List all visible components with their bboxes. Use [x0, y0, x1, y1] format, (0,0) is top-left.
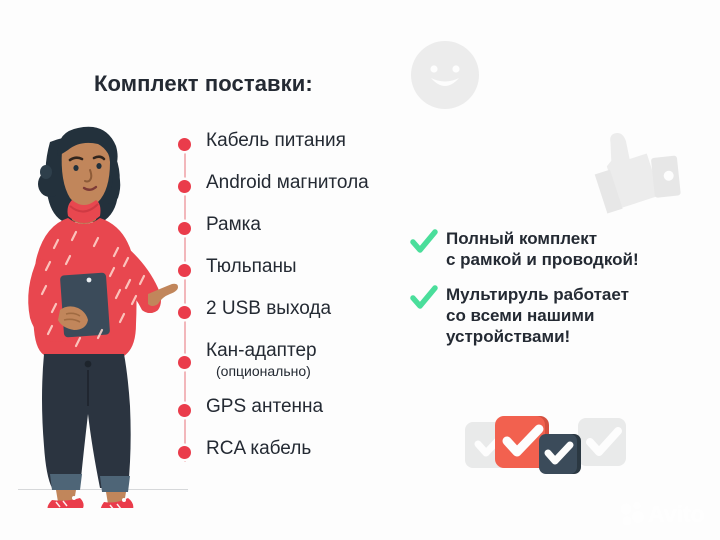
- bullet-dot-icon: [178, 222, 191, 235]
- kit-items-list: Кабель питания Android магнитола Рамка Т…: [178, 130, 428, 480]
- list-item-sublabel: (опционально): [216, 362, 311, 380]
- bullet-dot-icon: [178, 356, 191, 369]
- list-item: Тюльпаны: [178, 256, 428, 298]
- feature-label: Мультируль работает со всеми нашими устр…: [446, 285, 629, 346]
- feature-item: Полный комплект с рамкой и проводкой!: [410, 228, 710, 270]
- bullet-dot-icon: [178, 306, 191, 319]
- list-item-label: RCA кабель: [206, 438, 311, 460]
- list-item-label: 2 USB выхода: [206, 298, 331, 320]
- list-item: Android магнитола: [178, 172, 428, 214]
- list-item-label: Кабель питания: [206, 130, 346, 152]
- green-check-icon: [410, 285, 438, 311]
- feature-label: Полный комплект с рамкой и проводкой!: [446, 229, 639, 269]
- list-item-label: Кан-адаптер: [206, 340, 317, 362]
- avito-watermark: Avito: [618, 498, 714, 528]
- smiley-face-icon: [408, 38, 482, 112]
- feature-item: Мультируль работает со всеми нашими устр…: [410, 284, 710, 347]
- list-item: GPS антенна: [178, 396, 428, 438]
- list-item: Кабель питания: [178, 130, 428, 172]
- bullet-dot-icon: [178, 180, 191, 193]
- list-item: Рамка: [178, 214, 428, 256]
- bullet-dot-icon: [178, 446, 191, 459]
- list-item: 2 USB выхода: [178, 298, 428, 340]
- bullet-dot-icon: [178, 404, 191, 417]
- thumbs-up-icon: [578, 110, 690, 222]
- page-title: Комплект поставки:: [94, 71, 313, 97]
- list-item-label: Рамка: [206, 214, 261, 236]
- svg-text:Avito: Avito: [648, 501, 705, 527]
- bullet-dot-icon: [178, 264, 191, 277]
- list-item-label: Тюльпаны: [206, 256, 297, 278]
- green-check-icon: [410, 229, 438, 255]
- product-kit-slide: Avito: [0, 0, 720, 540]
- woman-pointing-illustration: [6, 98, 186, 508]
- list-item-label: Android магнитола: [206, 172, 369, 194]
- bullet-dot-icon: [178, 138, 191, 151]
- list-item: Кан-адаптер (опционально): [178, 340, 428, 396]
- list-item: RCA кабель: [178, 438, 428, 480]
- checkbox-group-icon: [462, 410, 627, 485]
- feature-highlights: Полный комплект с рамкой и проводкой! Му…: [410, 228, 710, 361]
- list-item-label: GPS антенна: [206, 396, 323, 418]
